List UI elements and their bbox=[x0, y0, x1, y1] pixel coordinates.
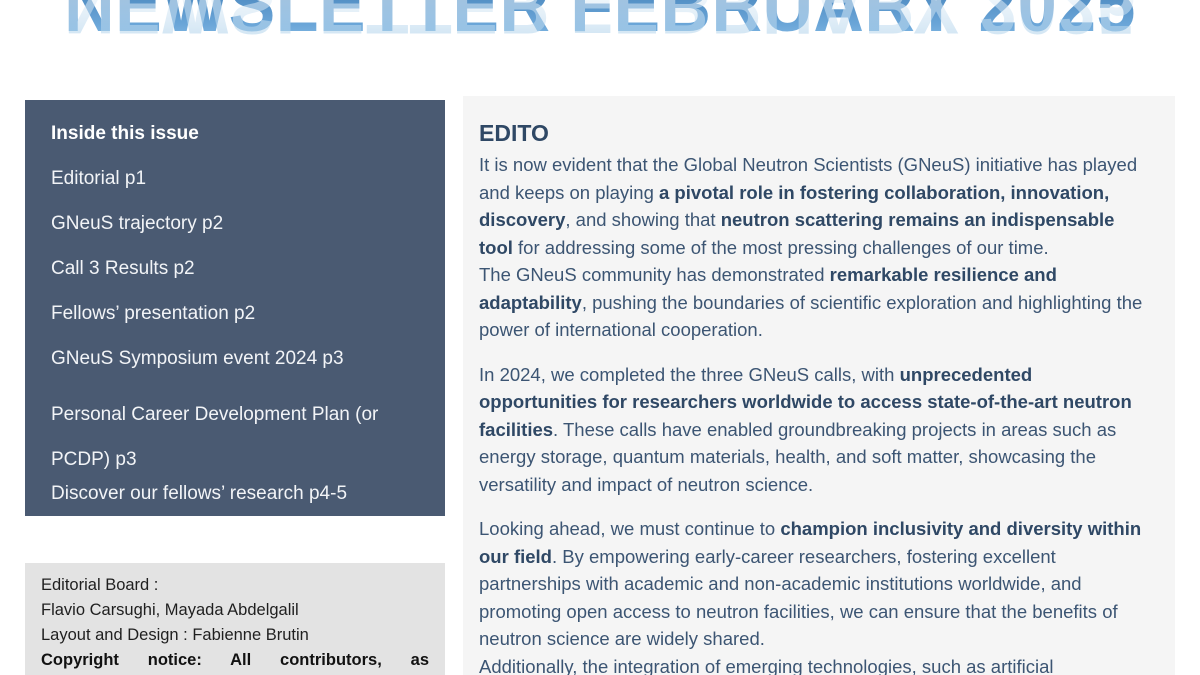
body-text: . By empowering early-career researchers… bbox=[479, 546, 1118, 650]
masthead-banner: NEWSLETTER FEBRUARY 2025 NEWSLETTER FEBR… bbox=[0, 0, 1200, 104]
newsletter-page: NEWSLETTER FEBRUARY 2025 NEWSLETTER FEBR… bbox=[0, 0, 1200, 675]
edito-paragraph-5: Additionally, the integration of emergin… bbox=[479, 653, 1151, 675]
toc-item-fellows-presentation[interactable]: Fellows’ presentation p2 bbox=[51, 302, 419, 326]
body-text: Looking ahead, we must continue to bbox=[479, 518, 780, 539]
edito-paragraph-3: In 2024, we completed the three GNeuS ca… bbox=[479, 361, 1151, 499]
body-text: , and showing that bbox=[565, 209, 720, 230]
page-title-reflection: NEWSLETTER FEBRUARY 2025 bbox=[48, 0, 1152, 48]
inside-this-issue-box: Inside this issue Editorial p1 GNeuS tra… bbox=[25, 100, 445, 516]
layout-design-credit: Layout and Design : Fabienne Brutin bbox=[41, 623, 429, 648]
edito-panel: EDITO It is now evident that the Global … bbox=[463, 96, 1175, 675]
toc-item-editorial[interactable]: Editorial p1 bbox=[51, 167, 419, 191]
body-text: for addressing some of the most pressing… bbox=[513, 237, 1049, 258]
editorial-board-label: Editorial Board : bbox=[41, 573, 429, 598]
toc-item-call-3-results[interactable]: Call 3 Results p2 bbox=[51, 257, 419, 281]
toc-heading: Inside this issue bbox=[51, 122, 419, 146]
toc-item-pcdp[interactable]: Personal Career Development Plan (or PCD… bbox=[51, 392, 419, 482]
edito-paragraph-4: Looking ahead, we must continue to champ… bbox=[479, 515, 1151, 653]
edito-heading: EDITO bbox=[479, 118, 1151, 148]
toc-item-gneus-symposium[interactable]: GNeuS Symposium event 2024 p3 bbox=[51, 347, 419, 371]
edito-paragraph-1: It is now evident that the Global Neutro… bbox=[479, 151, 1151, 261]
copyright-notice: Copyright notice: All contributors, as bbox=[41, 648, 429, 673]
editorial-board-members: Flavio Carsughi, Mayada Abdelgalil bbox=[41, 598, 429, 623]
edito-paragraph-2: The GNeuS community has demonstrated rem… bbox=[479, 261, 1151, 344]
editorial-board-box: Editorial Board : Flavio Carsughi, Mayad… bbox=[25, 563, 445, 675]
toc-item-gneus-trajectory[interactable]: GNeuS trajectory p2 bbox=[51, 212, 419, 236]
toc-item-fellows-research[interactable]: Discover our fellows’ research p4-5 bbox=[51, 482, 419, 506]
body-text: . These calls have enabled groundbreakin… bbox=[479, 419, 1116, 495]
body-text: In 2024, we completed the three GNeuS ca… bbox=[479, 364, 900, 385]
body-text: Additionally, the integration of emergin… bbox=[479, 656, 1054, 675]
body-text: The GNeuS community has demonstrated bbox=[479, 264, 830, 285]
page-title: NEWSLETTER FEBRUARY 2025 bbox=[48, 0, 1152, 48]
